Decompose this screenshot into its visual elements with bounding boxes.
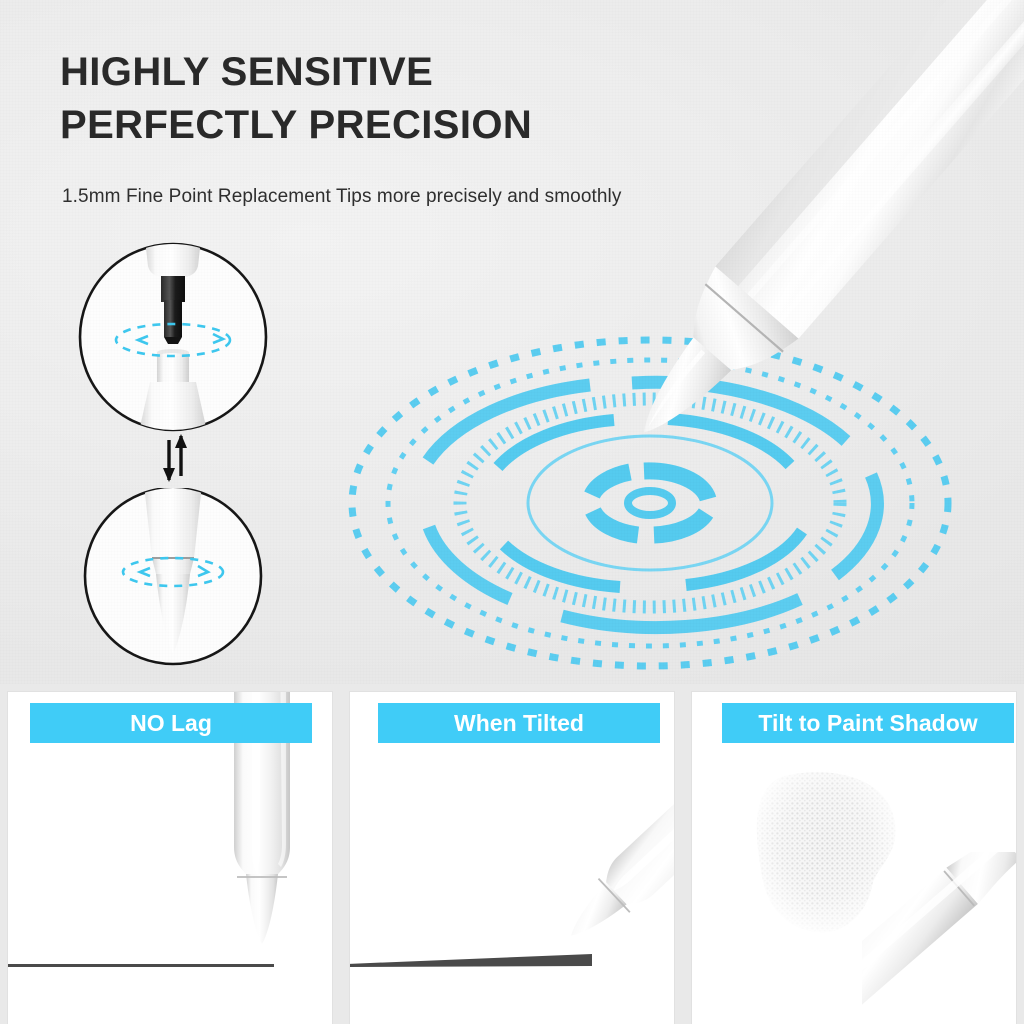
product-feature-image: HIGHLY SENSITIVE PERFECTLY PRECISION 1.5…: [0, 0, 1024, 1024]
headline-line-2: PERFECTLY PRECISION: [60, 99, 532, 152]
stroke-wedge: [350, 950, 606, 976]
tip-detach-inset: [68, 240, 278, 435]
panel-when-tilted: When Tilted: [350, 692, 674, 1024]
stylus-barrel-graphic: [560, 0, 1024, 510]
stroke-thin-line: [8, 964, 274, 967]
feature-panels: NO Lag: [0, 684, 1024, 1024]
panel-label-when-tilted: When Tilted: [378, 703, 660, 743]
headline-line-1: HIGHLY SENSITIVE: [60, 46, 532, 99]
page-title: HIGHLY SENSITIVE PERFECTLY PRECISION: [60, 46, 532, 152]
subtitle: 1.5mm Fine Point Replacement Tips more p…: [62, 186, 621, 208]
panel-label-no-lag: NO Lag: [30, 703, 312, 743]
panel-label-tilt-to-paint-shadow: Tilt to Paint Shadow: [722, 703, 1014, 743]
hero-section: HIGHLY SENSITIVE PERFECTLY PRECISION 1.5…: [0, 0, 1024, 684]
up-down-swap-arrows-icon: [158, 434, 192, 482]
panel-tilt-to-paint-shadow: Tilt to Paint Shadow: [692, 692, 1016, 1024]
tip-attached-inset: [68, 488, 278, 668]
panel-no-lag: NO Lag: [8, 692, 332, 1024]
tilted-stylus-illustration: [862, 852, 1016, 1024]
